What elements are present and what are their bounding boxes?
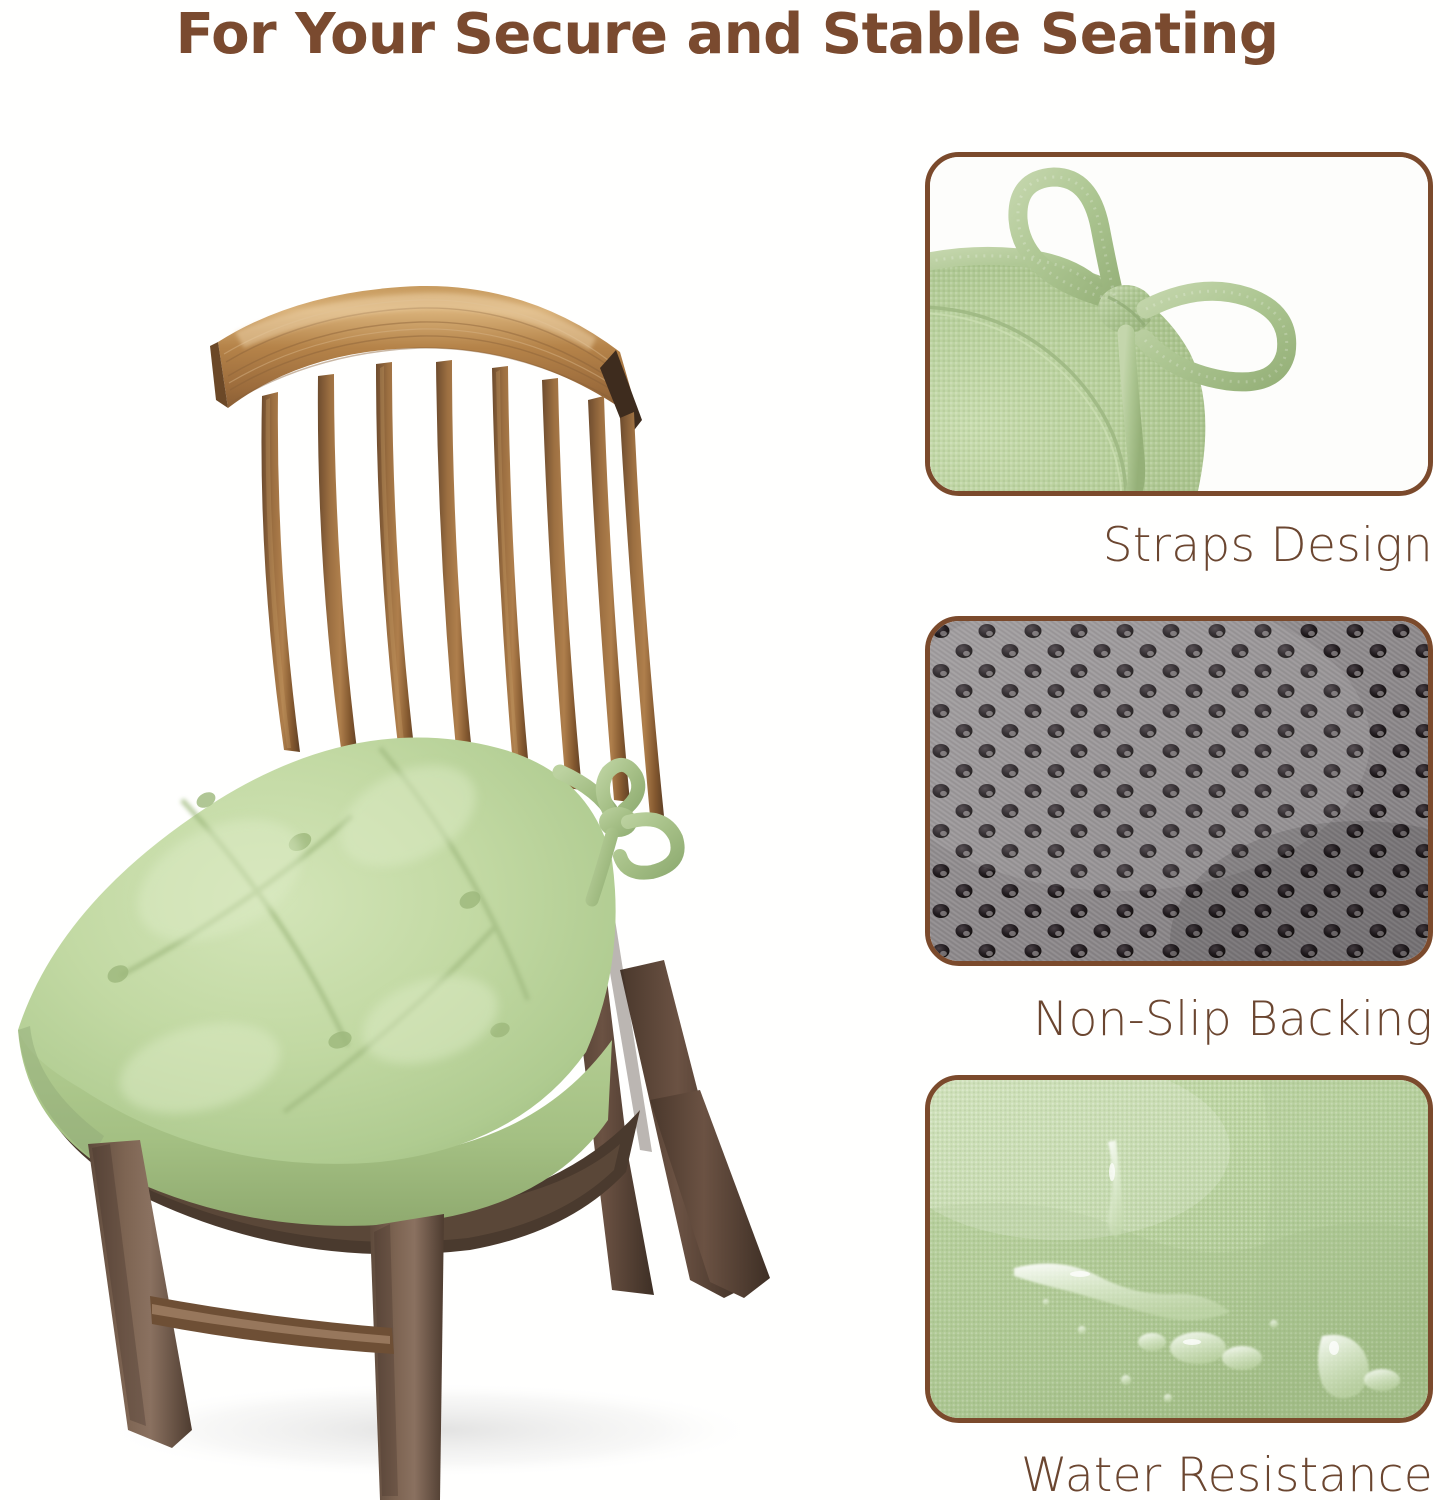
product-feature-page: For Your Secure and Stable Seating [0,0,1454,1500]
feature-image-straps [925,152,1433,496]
feature-caption-water: Water Resistance [875,1448,1433,1500]
feature-caption-straps: Straps Design [905,518,1433,573]
feature-caption-nonslip: Non-Slip Backing [875,992,1433,1047]
page-title: For Your Secure and Stable Seating [0,2,1454,67]
feature-panel-straps [925,152,1433,496]
feature-image-nonslip [925,616,1433,966]
feature-panel-water [925,1075,1433,1423]
feature-panel-nonslip [925,616,1433,966]
feature-image-water [925,1075,1433,1423]
main-product-image [0,100,880,1500]
